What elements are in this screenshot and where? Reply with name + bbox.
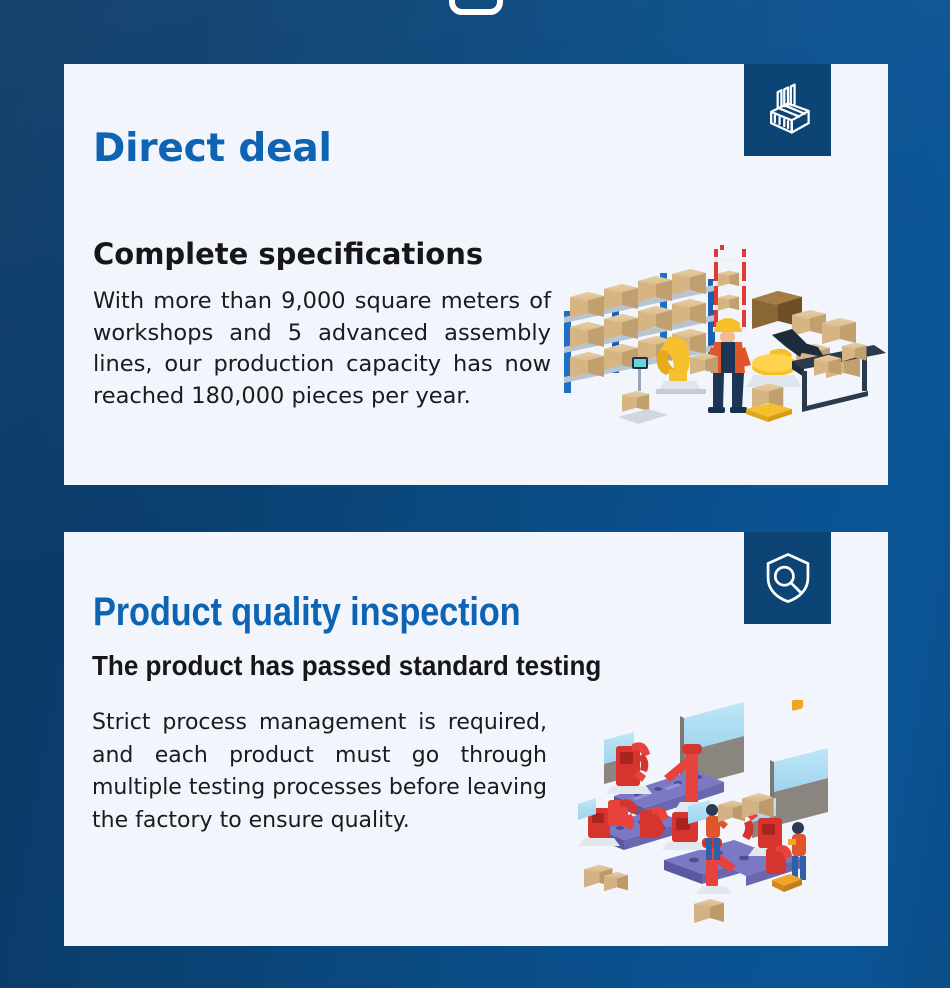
card-title-product-quality-inspection: Product quality inspection xyxy=(93,590,520,635)
card-paragraph-direct-deal: With more than 9,000 square meters of wo… xyxy=(93,286,551,412)
card-subtitle-standard-testing: The product has passed standard testing xyxy=(92,650,601,682)
card-direct-deal: Direct deal Complete specifications With… xyxy=(64,64,888,485)
factory-icon-badge xyxy=(744,64,831,156)
production-line-inspection-illustration xyxy=(576,700,886,925)
factory-icon xyxy=(758,80,818,140)
card-paragraph-product-quality-inspection: Strict process management is required, a… xyxy=(92,707,547,837)
shield-magnifier-icon-badge xyxy=(744,532,831,624)
card-product-quality-inspection: Product quality inspection The product h… xyxy=(64,532,888,946)
card-subtitle-complete-specifications: Complete specifications xyxy=(93,237,483,271)
card-title-direct-deal: Direct deal xyxy=(93,126,332,171)
shield-magnifier-icon xyxy=(759,549,817,607)
poster-page: Direct deal Complete specifications With… xyxy=(0,0,950,988)
warehouse-automation-illustration xyxy=(556,239,886,439)
clipped-rounded-icon xyxy=(447,0,505,16)
